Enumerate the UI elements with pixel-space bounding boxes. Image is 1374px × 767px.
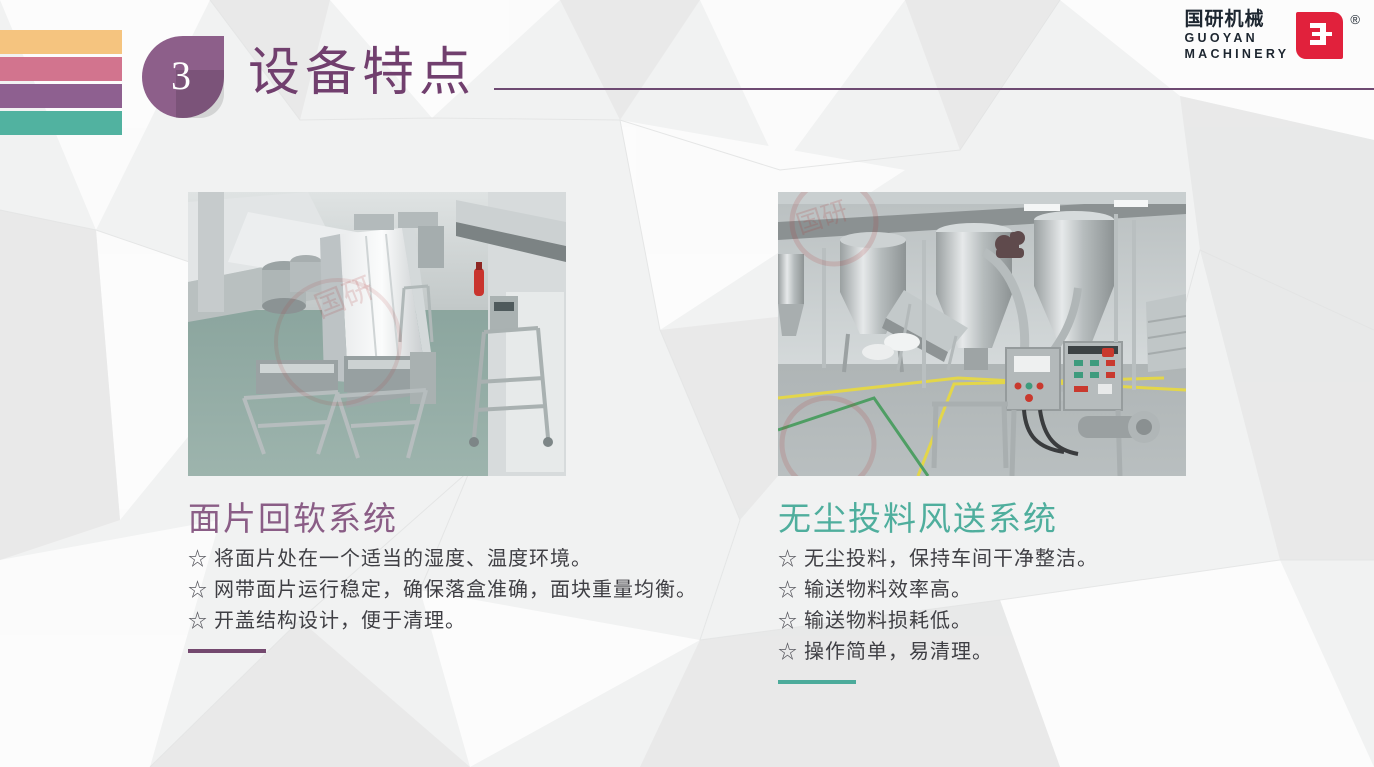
star-icon: ☆ (778, 611, 798, 632)
section-number-label: 3 (171, 56, 195, 99)
list-item: ☆网带面片运行稳定，确保落盒准确，面块重量均衡。 (188, 575, 748, 606)
list-item-label: 网带面片运行稳定，确保落盒准确，面块重量均衡。 (214, 579, 697, 601)
list-item: ☆操作简单，易清理。 (778, 637, 1338, 668)
feature-bullet-list-left: ☆将面片处在一个适当的湿度、温度环境。 ☆网带面片运行稳定，确保落盒准确，面块重… (188, 544, 748, 637)
logo-brand-cn: 国研机械 (1184, 10, 1289, 29)
title-underline-rule (494, 88, 1374, 90)
logo-brand-en-line1: GUOYAN (1184, 32, 1289, 45)
list-item: ☆将面片处在一个适当的湿度、温度环境。 (188, 544, 748, 575)
list-item-label: 开盖结构设计，便于清理。 (214, 610, 466, 632)
section-number-badge: 3 (142, 36, 224, 118)
list-item-label: 将面片处在一个适当的湿度、温度环境。 (214, 548, 592, 570)
accent-bar-rose (0, 57, 122, 81)
feature-bullet-list-right: ☆无尘投料，保持车间干净整洁。 ☆输送物料效率高。 ☆输送物料损耗低。 ☆操作简… (778, 544, 1338, 668)
accent-bar-teal (0, 111, 122, 135)
list-item: ☆无尘投料，保持车间干净整洁。 (778, 544, 1338, 575)
company-logo: 国研机械 GUOYAN MACHINERY ® (1184, 10, 1360, 60)
registered-trademark-icon: ® (1350, 12, 1360, 27)
accent-bar-orange (0, 30, 122, 54)
star-icon: ☆ (778, 549, 798, 570)
star-icon: ☆ (778, 580, 798, 601)
badge-shape: 3 (142, 36, 224, 118)
logo-brand-en-line2: MACHINERY (1184, 48, 1289, 61)
dustfree-feeding-conveying-photo: 国研 (778, 192, 1186, 476)
feature-underline-rule-right (778, 680, 856, 684)
guoyan-g-monogram-icon (1296, 12, 1343, 59)
feature-heading-right: 无尘投料风送系统 (778, 502, 1338, 540)
star-icon: ☆ (778, 642, 798, 663)
list-item-label: 操作简单，易清理。 (804, 641, 993, 663)
accent-bar-purple (0, 84, 122, 108)
feature-underline-rule-left (188, 649, 266, 653)
presentation-slide: 3 设备特点 国研机械 GUOYAN MACHINERY ® (0, 0, 1374, 767)
noodle-sheet-softening-line-photo: 国研 (188, 192, 566, 476)
feature-heading-left: 面片回软系统 (188, 502, 748, 540)
feature-column-right: 国研 无尘投料风送系统 ☆无尘投料，保持车间干净整洁。 ☆输送物料效率高。 ☆输… (778, 192, 1338, 684)
star-icon: ☆ (188, 580, 208, 601)
list-item-label: 输送物料损耗低。 (804, 610, 972, 632)
star-icon: ☆ (188, 611, 208, 632)
accent-color-bars (0, 30, 122, 135)
list-item-label: 无尘投料，保持车间干净整洁。 (804, 548, 1098, 570)
list-item: ☆输送物料效率高。 (778, 575, 1338, 606)
list-item: ☆输送物料损耗低。 (778, 606, 1338, 637)
feature-column-left: 国研 面片回软系统 ☆将面片处在一个适当的湿度、温度环境。 ☆网带面片运行稳定，… (188, 192, 748, 653)
page-title: 设备特点 (248, 48, 476, 100)
list-item: ☆开盖结构设计，便于清理。 (188, 606, 748, 637)
list-item-label: 输送物料效率高。 (804, 579, 972, 601)
logo-wordmark: 国研机械 GUOYAN MACHINERY (1184, 10, 1289, 60)
star-icon: ☆ (188, 549, 208, 570)
